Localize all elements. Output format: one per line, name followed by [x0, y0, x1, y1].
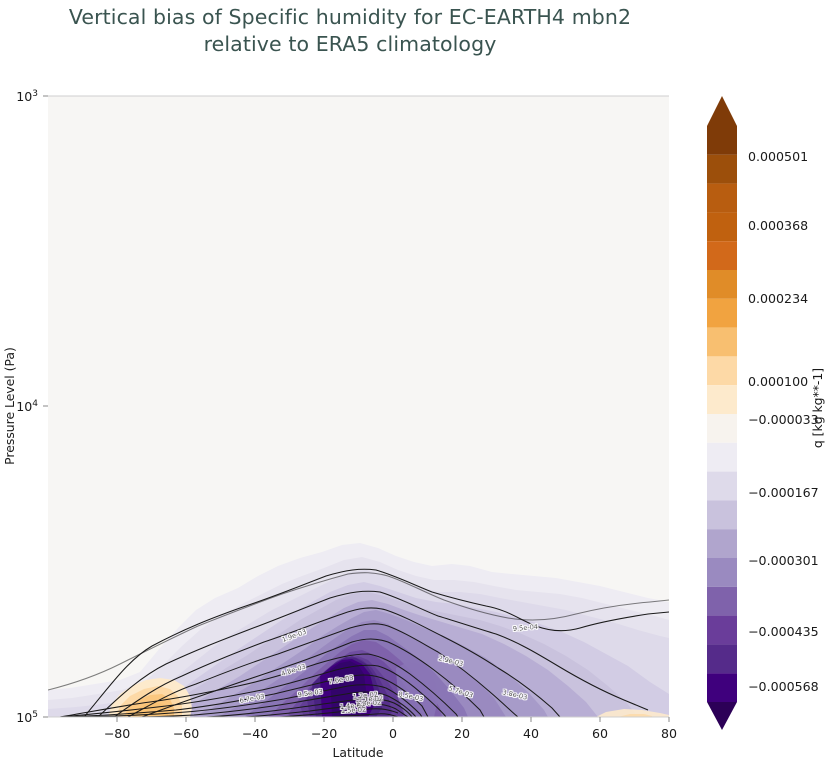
y-axis-label: Pressure Level (Pa)	[2, 347, 17, 465]
colorbar-ticklabel-6: −0.000301	[748, 553, 819, 568]
x-ticklabel--20: −20	[311, 726, 338, 741]
colorbar-band-9	[707, 385, 737, 414]
colorbar-band-18	[707, 644, 737, 673]
y-axis-ticklabels: 103 104 105	[16, 89, 38, 725]
x-ticklabel-40: 40	[523, 726, 539, 741]
x-ticklabel--40: −40	[242, 726, 269, 741]
colorbar-ticklabel-5: −0.000167	[748, 485, 819, 500]
colorbar-band-4	[707, 241, 737, 270]
colorbar-band-3	[707, 212, 737, 241]
colorbar-band-17	[707, 616, 737, 645]
colorbar-band-0	[707, 126, 737, 155]
contour-label-1.5e-02: 1.5e-02	[341, 706, 367, 715]
colorbar-band-13	[707, 500, 737, 529]
x-ticklabel-80: 80	[661, 726, 677, 741]
y-ticklabel-1e4: 104	[16, 399, 38, 414]
x-axis-label: Latitude	[333, 745, 384, 760]
colorbar-ticklabel-4: −0.000033	[748, 412, 819, 427]
x-ticklabel-0: 0	[389, 726, 397, 741]
y-ticklabel-1e5: 105	[16, 710, 38, 725]
x-ticklabel-60: 60	[592, 726, 608, 741]
plot-svg: 9.5e-04 1.9e-03 2.9e-03 3.8e-03 4.8e-03 …	[0, 0, 835, 766]
colorbar-band-6	[707, 299, 737, 328]
colorbar-band-19	[707, 673, 737, 702]
colorbar-ticklabel-8: −0.000568	[748, 679, 819, 694]
x-axis-ticks	[117, 717, 669, 722]
x-ticklabel--60: −60	[173, 726, 200, 741]
colorbar-band-7	[707, 328, 737, 357]
x-ticklabel--80: −80	[104, 726, 131, 741]
colorbar-band-1	[707, 155, 737, 184]
colorbar-extend-top	[707, 96, 737, 126]
contour-line-1.5e-02	[140, 718, 382, 725]
colorbar-band-12	[707, 472, 737, 501]
colorbar-ticklabels: 0.000501 0.000368 0.000234 0.000100 −0.0…	[748, 149, 819, 694]
y-axis-ticks	[43, 96, 48, 717]
colorbar-band-15	[707, 558, 737, 587]
y-ticklabel-1e3: 103	[16, 89, 38, 104]
colorbar-label: q [kg kg**-1]	[810, 368, 825, 448]
colorbar-ticklabel-3: 0.000100	[748, 374, 808, 389]
x-axis-ticklabels: −80 −60 −40 −20 0 20 40 60 80	[104, 726, 677, 741]
colorbar-ticklabel-2: 0.000234	[748, 291, 808, 306]
colorbar-band-16	[707, 587, 737, 616]
colorbar-band-14	[707, 529, 737, 558]
colorbar-ticklabel-0: 0.000501	[748, 149, 808, 164]
colorbar-ticklabel-7: −0.000435	[748, 624, 819, 639]
colorbar-band-2	[707, 184, 737, 213]
figure-root: Vertical bias of Specific humidity for E…	[0, 0, 835, 766]
colorbar-band-5	[707, 270, 737, 299]
colorbar-band-11	[707, 443, 737, 472]
colorbar-band-10	[707, 414, 737, 443]
colorbar: 0.000501 0.000368 0.000234 0.000100 −0.0…	[707, 96, 825, 730]
colorbar-ticklabel-1: 0.000368	[748, 218, 808, 233]
colorbar-band-8	[707, 356, 737, 385]
colorbar-extend-bottom	[707, 702, 737, 730]
x-ticklabel-20: 20	[454, 726, 470, 741]
